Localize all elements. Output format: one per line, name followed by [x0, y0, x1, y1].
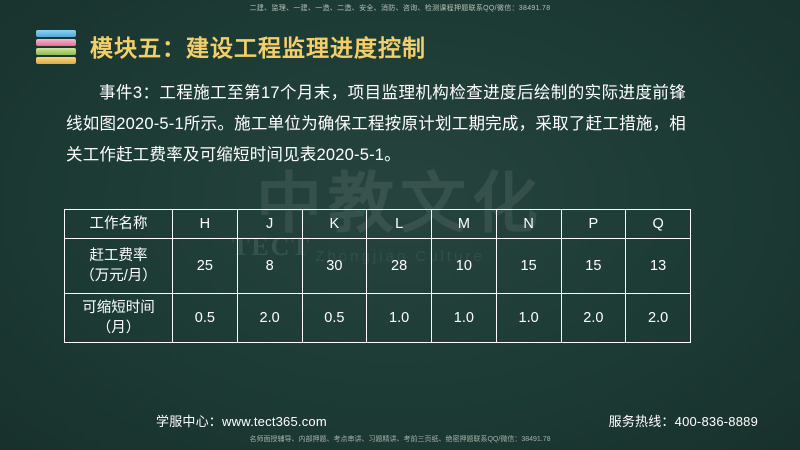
cell-work-m: M [432, 210, 497, 239]
row-header-crash-cost: 赶工费率 （万元/月） [65, 239, 173, 294]
footer-website: 学服中心：www.tect365.com [156, 411, 327, 430]
cell-cost-k: 30 [302, 239, 367, 294]
table-row: 工作名称 H J K L M N P Q [65, 210, 691, 239]
cell-cost-m: 10 [432, 239, 497, 294]
body-paragraph: 事件3：工程施工至第17个月末，项目监理机构检查进度后绘制的实际进度前锋线如图2… [66, 78, 686, 171]
data-table: 工作名称 H J K L M N P Q 赶工费率 （万元/月） 25 8 30… [64, 209, 691, 343]
cell-cost-q: 13 [626, 239, 691, 294]
cell-work-l: L [367, 210, 432, 239]
data-table-wrapper: 工作名称 H J K L M N P Q 赶工费率 （万元/月） 25 8 30… [64, 209, 691, 343]
cell-cost-l: 28 [367, 239, 432, 294]
cell-time-q: 2.0 [626, 294, 691, 343]
cell-time-n: 1.0 [496, 294, 561, 343]
footer-hotline-value: 400-836-8889 [675, 414, 758, 429]
page-title: 模块五：建设工程监理进度控制 [90, 29, 426, 63]
row-header-crash-cost-line2: （万元/月） [69, 266, 168, 286]
cell-time-m: 1.0 [432, 294, 497, 343]
footer-website-label: 学服中心： [156, 414, 222, 429]
top-banner-text: 二建、监理、一建、一造、二造、安全、消防、咨询、检测课程押题联系QQ/微信：38… [0, 3, 800, 13]
footer-hotline: 服务热线：400-836-8889 [609, 411, 758, 430]
cell-work-q: Q [626, 210, 691, 239]
footer-note: 名师面授辅导、内部押题、考点串讲、习题精讲、考前三页纸、绝密押题联系QQ/微信：… [0, 434, 800, 444]
cell-cost-n: 15 [496, 239, 561, 294]
row-header-crash-cost-line1: 赶工费率 [69, 246, 168, 266]
row-header-shorten-time-line1: 可缩短时间 [69, 298, 168, 318]
cell-work-p: P [561, 210, 626, 239]
slide-title-row: 模块五：建设工程监理进度控制 [36, 28, 426, 64]
cell-time-l: 1.0 [367, 294, 432, 343]
cell-work-h: H [173, 210, 238, 239]
cell-cost-h: 25 [173, 239, 238, 294]
cell-cost-p: 15 [561, 239, 626, 294]
footer-hotline-label: 服务热线： [609, 414, 675, 429]
row-header-work-name: 工作名称 [65, 210, 173, 239]
cell-time-k: 0.5 [302, 294, 367, 343]
cell-cost-j: 8 [237, 239, 302, 294]
table-row: 可缩短时间 （月） 0.5 2.0 0.5 1.0 1.0 1.0 2.0 2.… [65, 294, 691, 343]
cell-time-p: 2.0 [561, 294, 626, 343]
cell-work-j: J [237, 210, 302, 239]
cell-time-h: 0.5 [173, 294, 238, 343]
table-row: 赶工费率 （万元/月） 25 8 30 28 10 15 15 13 [65, 239, 691, 294]
cell-time-j: 2.0 [237, 294, 302, 343]
row-header-shorten-time: 可缩短时间 （月） [65, 294, 173, 343]
cell-work-n: N [496, 210, 561, 239]
row-header-shorten-time-line2: （月） [69, 318, 168, 338]
slide-root: 二建、监理、一建、一造、二造、安全、消防、咨询、检测课程押题联系QQ/微信：38… [0, 0, 800, 450]
cell-work-k: K [302, 210, 367, 239]
books-icon [36, 28, 76, 64]
footer-website-value[interactable]: www.tect365.com [222, 414, 327, 429]
